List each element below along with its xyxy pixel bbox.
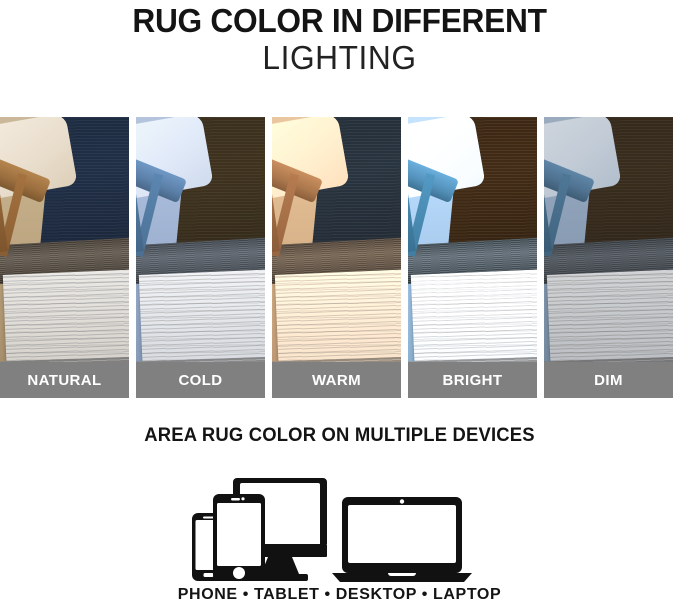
rug-photo-dim: [544, 117, 673, 398]
devices-section-heading: AREA RUG COLOR ON MULTIPLE DEVICES: [10, 425, 669, 447]
rug-photo-natural: [0, 117, 129, 398]
page-title-line-1: RUG COLOR IN DIFFERENT: [14, 2, 666, 40]
lighting-panel-dim: DIM: [544, 117, 673, 398]
panel-label-warm: WARM: [272, 362, 401, 398]
devices-icon-group: [190, 466, 490, 584]
lighting-panel-warm: WARM: [272, 117, 401, 398]
panel-label-natural: NATURAL: [0, 362, 129, 398]
laptop-icon: [332, 497, 472, 582]
tablet-icon: [213, 494, 265, 581]
lighting-panel-cold: COLD: [136, 117, 265, 398]
panel-label-bright: BRIGHT: [408, 362, 537, 398]
panel-label-cold: COLD: [136, 362, 265, 398]
lighting-panel-natural: NATURAL: [0, 117, 129, 398]
panel-label-dim: DIM: [544, 362, 673, 398]
page-title-line-2: LIGHTING: [14, 40, 666, 76]
rug-photo-cold: [136, 117, 265, 398]
rug-photo-bright: [408, 117, 537, 398]
rug-photo-warm: [272, 117, 401, 398]
lighting-panel-row: NATURAL COLD WARM: [0, 117, 679, 398]
lighting-panel-bright: BRIGHT: [408, 117, 537, 398]
devices-caption: PHONE • TABLET • DESKTOP • LAPTOP: [0, 586, 679, 604]
page-title: RUG COLOR IN DIFFERENT LIGHTING: [0, 0, 679, 76]
